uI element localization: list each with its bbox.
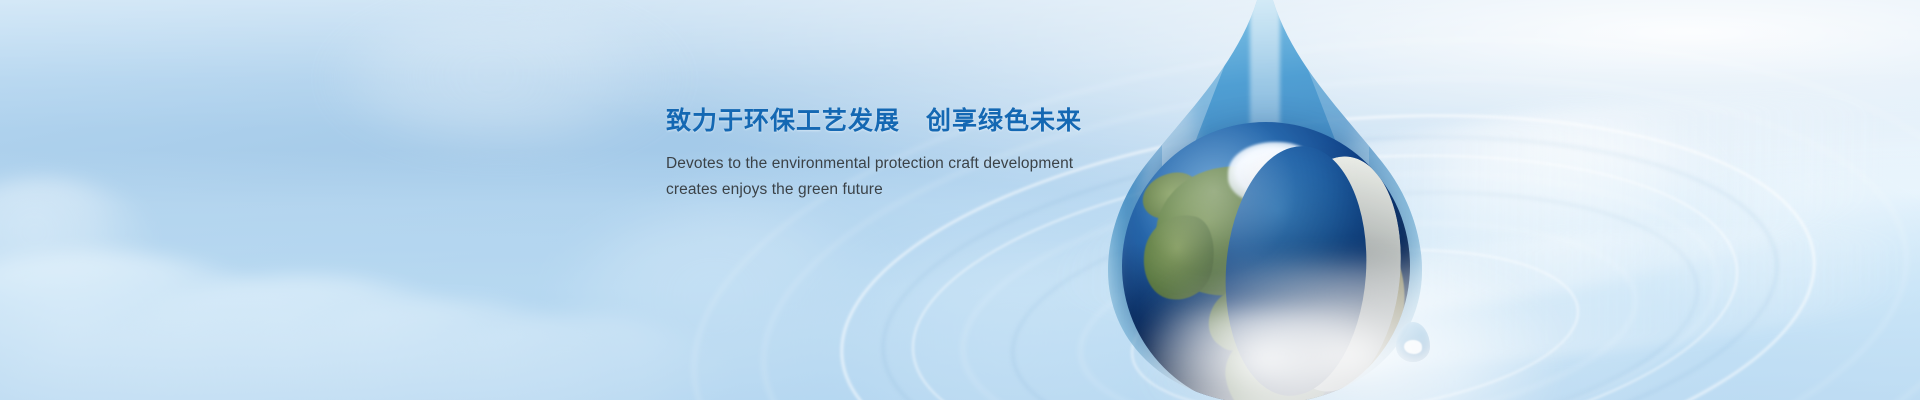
headline-segment-2: 创享绿色未来 [926, 107, 1082, 135]
headline-segment-1: 致力于环保工艺发展 [666, 107, 900, 135]
eco-hero-banner: 致力于环保工艺发展创享绿色未来 Devotes to the environme… [0, 0, 1920, 400]
water-impact-glow [1140, 260, 1560, 400]
